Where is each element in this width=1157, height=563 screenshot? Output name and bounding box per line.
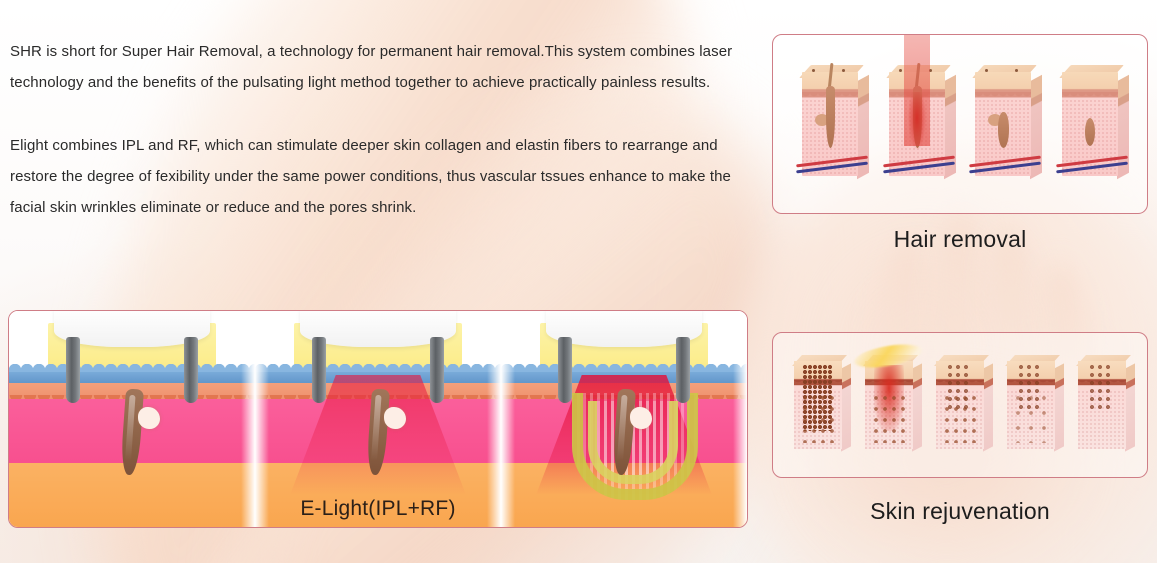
melanin-residual bbox=[1090, 365, 1114, 409]
hair-follicle-shrunk bbox=[1085, 118, 1095, 146]
elight-pane-2 bbox=[255, 311, 501, 527]
skin-rejuvenation-card bbox=[772, 332, 1148, 478]
skin-block-stage-2 bbox=[889, 72, 945, 176]
skin-side-face bbox=[1125, 363, 1135, 451]
skin-rejuvenation-caption: Skin rejuvenation bbox=[772, 498, 1148, 525]
follicle-bulge bbox=[630, 407, 652, 429]
description-text-block: SHR is short for Super Hair Removal, a t… bbox=[10, 36, 736, 223]
skin-side-face bbox=[983, 363, 993, 451]
skin-front-face bbox=[865, 361, 913, 449]
follicle-bulge bbox=[384, 407, 406, 429]
paragraph-shr: SHR is short for Super Hair Removal, a t… bbox=[10, 36, 736, 98]
elight-pane-row bbox=[9, 311, 747, 527]
pore-icon bbox=[899, 69, 902, 72]
pigment-block-stage-5 bbox=[1078, 361, 1126, 449]
rf-probe-left bbox=[312, 337, 326, 403]
page-root: SHR is short for Super Hair Removal, a t… bbox=[0, 0, 1157, 563]
blood-vessels bbox=[969, 158, 1041, 172]
skin-front-face bbox=[794, 361, 842, 449]
rf-probe-left bbox=[558, 337, 572, 403]
rf-probe-right bbox=[184, 337, 198, 403]
skin-block-stage-3 bbox=[975, 72, 1031, 176]
pigment-block-stage-3 bbox=[936, 361, 984, 449]
skin-side-face bbox=[841, 363, 851, 451]
paragraph-elight: Elight combines IPL and RF, which can st… bbox=[10, 130, 736, 223]
elight-caption: E-Light(IPL+RF) bbox=[9, 497, 747, 521]
elight-pane-1 bbox=[9, 311, 255, 527]
pigment-block-stage-4 bbox=[1007, 361, 1055, 449]
melanin-scatter bbox=[944, 395, 976, 443]
melanin-scatter bbox=[873, 395, 905, 443]
follicle-bulge bbox=[138, 407, 160, 429]
rf-probe-right bbox=[430, 337, 444, 403]
melanin-scatter bbox=[1015, 395, 1047, 443]
elight-card: E-Light(IPL+RF) bbox=[8, 310, 748, 528]
skin-rejuvenation-stage-row bbox=[773, 333, 1147, 477]
laser-absorption-glow bbox=[908, 92, 926, 150]
pigment-block-stage-2 bbox=[865, 361, 913, 449]
skin-front-face bbox=[1007, 361, 1055, 449]
melanin-scatter bbox=[802, 395, 834, 443]
hair-removal-card bbox=[772, 34, 1148, 214]
skin-front-face bbox=[936, 361, 984, 449]
elight-pane-3 bbox=[501, 311, 747, 527]
skin-side-face bbox=[1054, 363, 1064, 451]
skin-side-face bbox=[912, 363, 922, 451]
blood-vessels bbox=[883, 158, 955, 172]
hair-removal-stage-row bbox=[773, 35, 1147, 213]
rf-probe-left bbox=[66, 337, 80, 403]
skin-front-face bbox=[1078, 361, 1126, 449]
hair-removal-caption: Hair removal bbox=[772, 226, 1148, 253]
skin-block-stage-4 bbox=[1062, 72, 1118, 176]
blood-vessels bbox=[796, 158, 868, 172]
blood-vessels bbox=[1056, 158, 1128, 172]
skin-block-stage-1 bbox=[802, 72, 858, 176]
pigment-block-stage-1 bbox=[794, 361, 842, 449]
rf-probe-right bbox=[676, 337, 690, 403]
